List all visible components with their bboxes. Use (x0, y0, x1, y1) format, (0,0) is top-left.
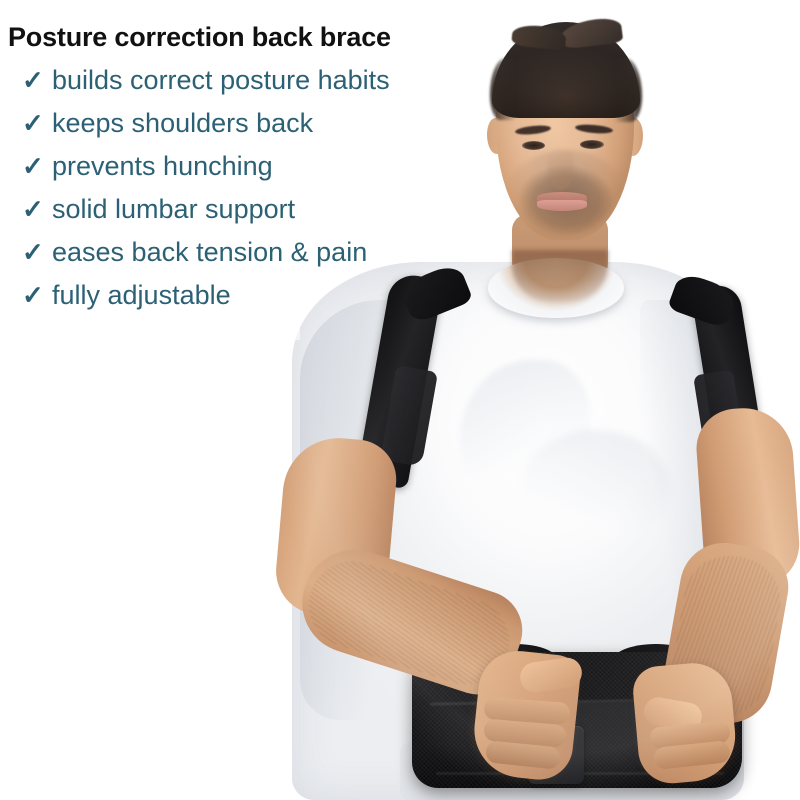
lower-lip (537, 200, 587, 211)
list-item: ✓ prevents hunching (22, 153, 390, 196)
page-title: Posture correction back brace (8, 22, 391, 53)
benefit-label: builds correct posture habits (52, 67, 390, 94)
list-item: ✓ solid lumbar support (22, 196, 390, 239)
check-icon: ✓ (22, 196, 52, 222)
list-item: ✓ keeps shoulders back (22, 110, 390, 153)
benefit-label: eases back tension & pain (52, 239, 367, 266)
list-item: ✓ fully adjustable (22, 282, 390, 325)
benefit-list: ✓ builds correct posture habits ✓ keeps … (22, 67, 390, 325)
check-icon: ✓ (22, 153, 52, 179)
benefit-label: fully adjustable (52, 282, 231, 309)
list-item: ✓ builds correct posture habits (22, 67, 390, 110)
check-icon: ✓ (22, 110, 52, 136)
eye-right (580, 140, 604, 149)
benefit-label: keeps shoulders back (52, 110, 313, 137)
hair-fade-right (614, 58, 642, 122)
hair-fade-left (490, 58, 516, 120)
eye-left (522, 141, 545, 150)
nose (548, 148, 574, 190)
check-icon: ✓ (22, 239, 52, 265)
benefit-label: prevents hunching (52, 153, 273, 180)
check-icon: ✓ (22, 282, 52, 308)
product-marketing-image: Posture correction back brace ✓ builds c… (0, 0, 800, 800)
check-icon: ✓ (22, 67, 52, 93)
benefit-label: solid lumbar support (52, 196, 295, 223)
list-item: ✓ eases back tension & pain (22, 239, 390, 282)
shirt-fold (520, 430, 670, 550)
